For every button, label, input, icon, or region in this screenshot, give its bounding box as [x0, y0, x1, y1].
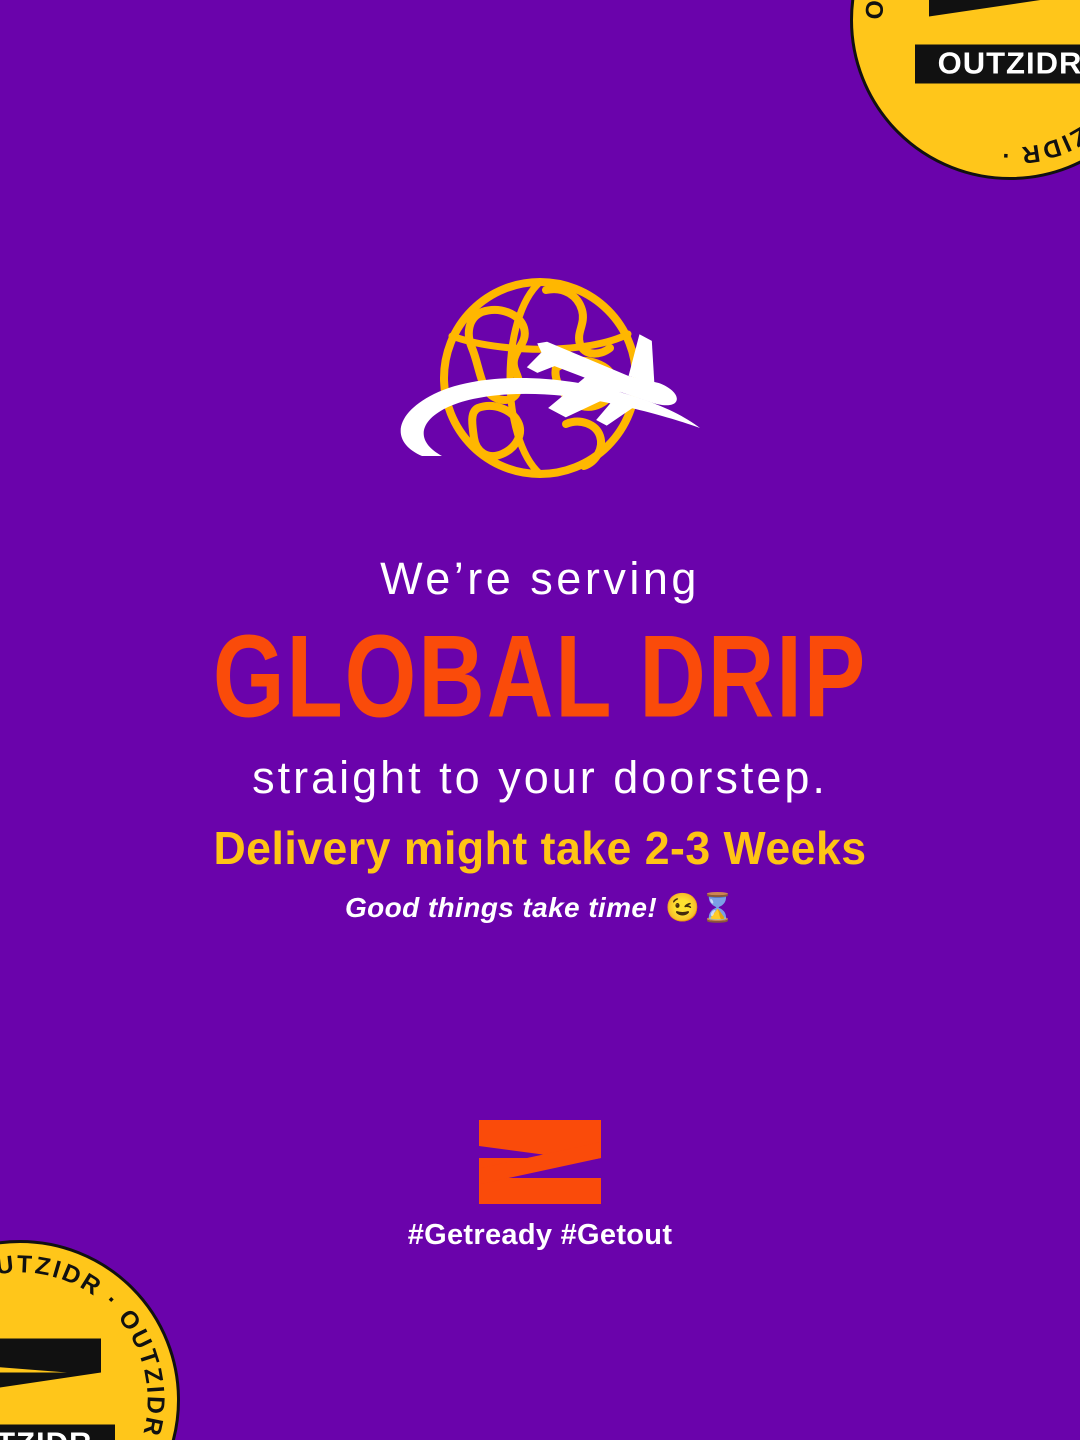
- outzidr-z-logo-icon: [477, 1118, 603, 1206]
- footer-brand-lockup: #Getready #Getout: [0, 1118, 1080, 1250]
- badge-core-top-right: OUTZIDR: [915, 0, 1080, 84]
- poster-canvas: OUTZIDR · OUTZIDR · OUTZIDR · OUTZIDR · …: [0, 0, 1080, 1440]
- badge-wordmark: OUTZIDR: [915, 45, 1080, 84]
- outzidr-badge-bottom-left: OUTZIDR · OUTZIDR · OUTZIDR · OUTZIDR · …: [0, 1240, 180, 1440]
- headline-copy-block: We’re serving GLOBAL DRIP straight to yo…: [0, 552, 1080, 804]
- z-mark-icon: [0, 1337, 105, 1423]
- globe-with-airplane-icon: [360, 272, 720, 512]
- wink-hourglass-emoji: 😉⌛: [665, 892, 735, 923]
- headline-pre-text: We’re serving: [0, 552, 1080, 605]
- badge-core-bottom-left: OUTZIDR: [0, 1337, 115, 1440]
- delivery-subline-text: Good things take time! 😉⌛: [0, 891, 1080, 925]
- delivery-headline-text: Delivery might take 2-3 Weeks: [16, 822, 1064, 875]
- delivery-notice-block: Delivery might take 2-3 Weeks Good thing…: [0, 822, 1080, 924]
- z-mark-icon: [925, 0, 1080, 43]
- badge-wordmark: OUTZIDR: [0, 1425, 115, 1440]
- delivery-subline-label: Good things take time!: [345, 892, 665, 923]
- outzidr-badge-top-right: OUTZIDR · OUTZIDR · OUTZIDR · OUTZIDR · …: [850, 0, 1080, 180]
- footer-hashtags-text: #Getready #Getout: [0, 1221, 1080, 1250]
- headline-post-text: straight to your doorstep.: [0, 751, 1080, 804]
- headline-main-text: GLOBAL DRIP: [22, 619, 1059, 736]
